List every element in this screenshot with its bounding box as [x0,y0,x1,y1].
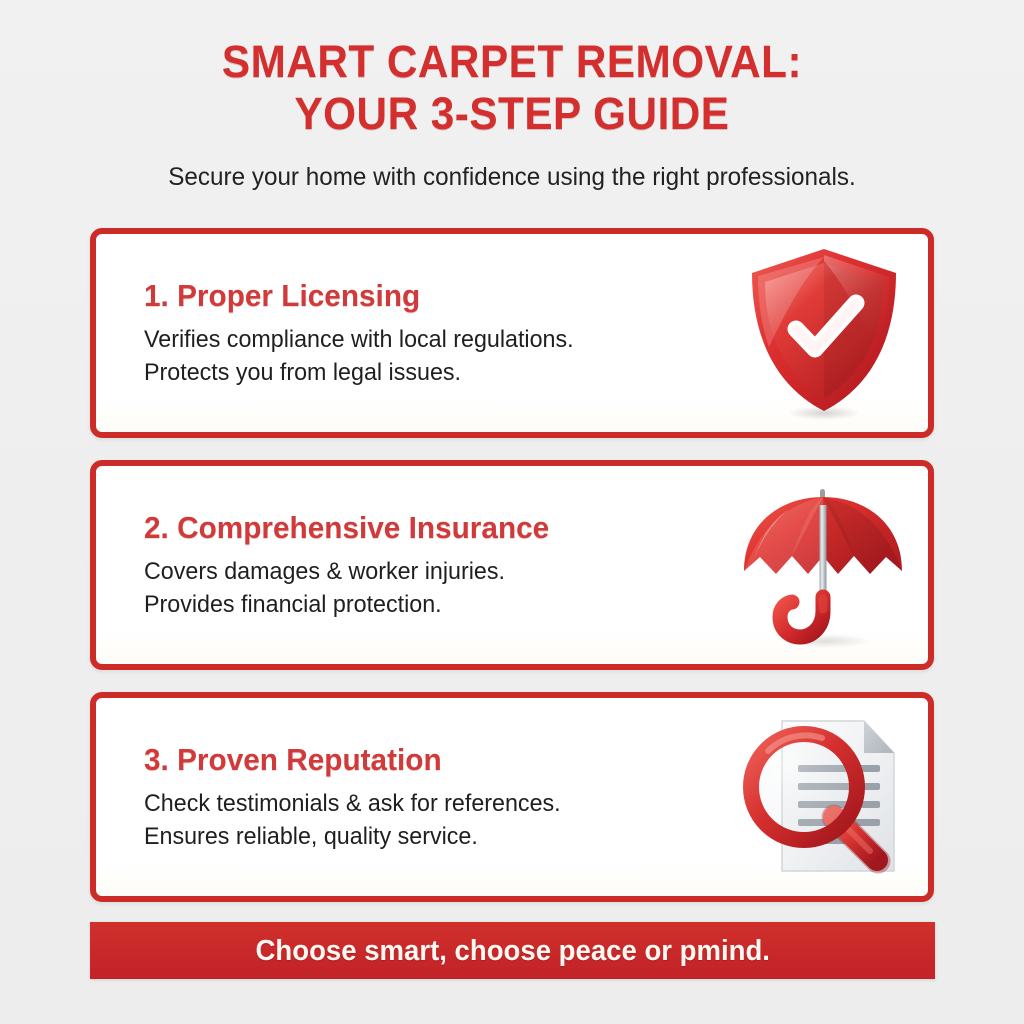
step-card-1-heading: 1. Proper Licensing [144,277,697,315]
step-card-2: 2. Comprehensive Insurance Covers damage… [90,460,934,670]
header: SMART CARPET REMOVAL: YOUR 3-STEP GUIDE … [0,0,1024,192]
step-card-3-body-line-2: Ensures reliable, quality service. [144,820,703,853]
step-card-2-body-line-1: Covers damages & worker injuries. [144,555,703,588]
step-card-1-text: 1. Proper Licensing Verifies compliance … [96,277,720,389]
step-card-1-body: Verifies compliance with local regulatio… [144,323,703,389]
step-card-3-body-line-1: Check testimonials & ask for references. [144,787,703,820]
footer-banner: Choose smart, choose peace or pmind. [90,922,935,979]
step-card-2-icon-wrap [720,467,928,663]
umbrella-icon [734,479,914,651]
step-card-1: 1. Proper Licensing Verifies compliance … [90,228,934,438]
infographic-poster: SMART CARPET REMOVAL: YOUR 3-STEP GUIDE … [0,0,1024,1024]
document-magnifier-icon [738,713,910,881]
footer-tagline: Choose smart, choose peace or pmind. [255,934,769,968]
shield-check-icon [739,243,909,423]
step-card-1-body-line-1: Verifies compliance with local regulatio… [144,323,703,356]
step-card-1-body-line-2: Protects you from legal issues. [144,356,703,389]
step-card-1-icon-wrap [720,235,928,431]
step-card-2-body: Covers damages & worker injuries. Provid… [144,555,703,621]
step-card-3-heading: 3. Proven Reputation [144,741,697,779]
step-card-2-body-line-2: Provides financial protection. [144,588,703,621]
title-line-2: YOUR 3-STEP GUIDE [31,88,994,140]
step-card-3: 3. Proven Reputation Check testimonials … [90,692,934,902]
step-card-3-text: 3. Proven Reputation Check testimonials … [96,741,720,853]
page-title: SMART CARPET REMOVAL: YOUR 3-STEP GUIDE [31,36,994,140]
step-card-2-heading: 2. Comprehensive Insurance [144,509,697,547]
page-subtitle: Secure your home with confidence using t… [15,162,1008,192]
step-card-2-text: 2. Comprehensive Insurance Covers damage… [96,509,720,621]
step-card-list: 1. Proper Licensing Verifies compliance … [90,228,934,924]
title-line-1: SMART CARPET REMOVAL: [31,36,994,88]
step-card-3-body: Check testimonials & ask for references.… [144,787,703,853]
step-card-3-icon-wrap [720,699,928,895]
